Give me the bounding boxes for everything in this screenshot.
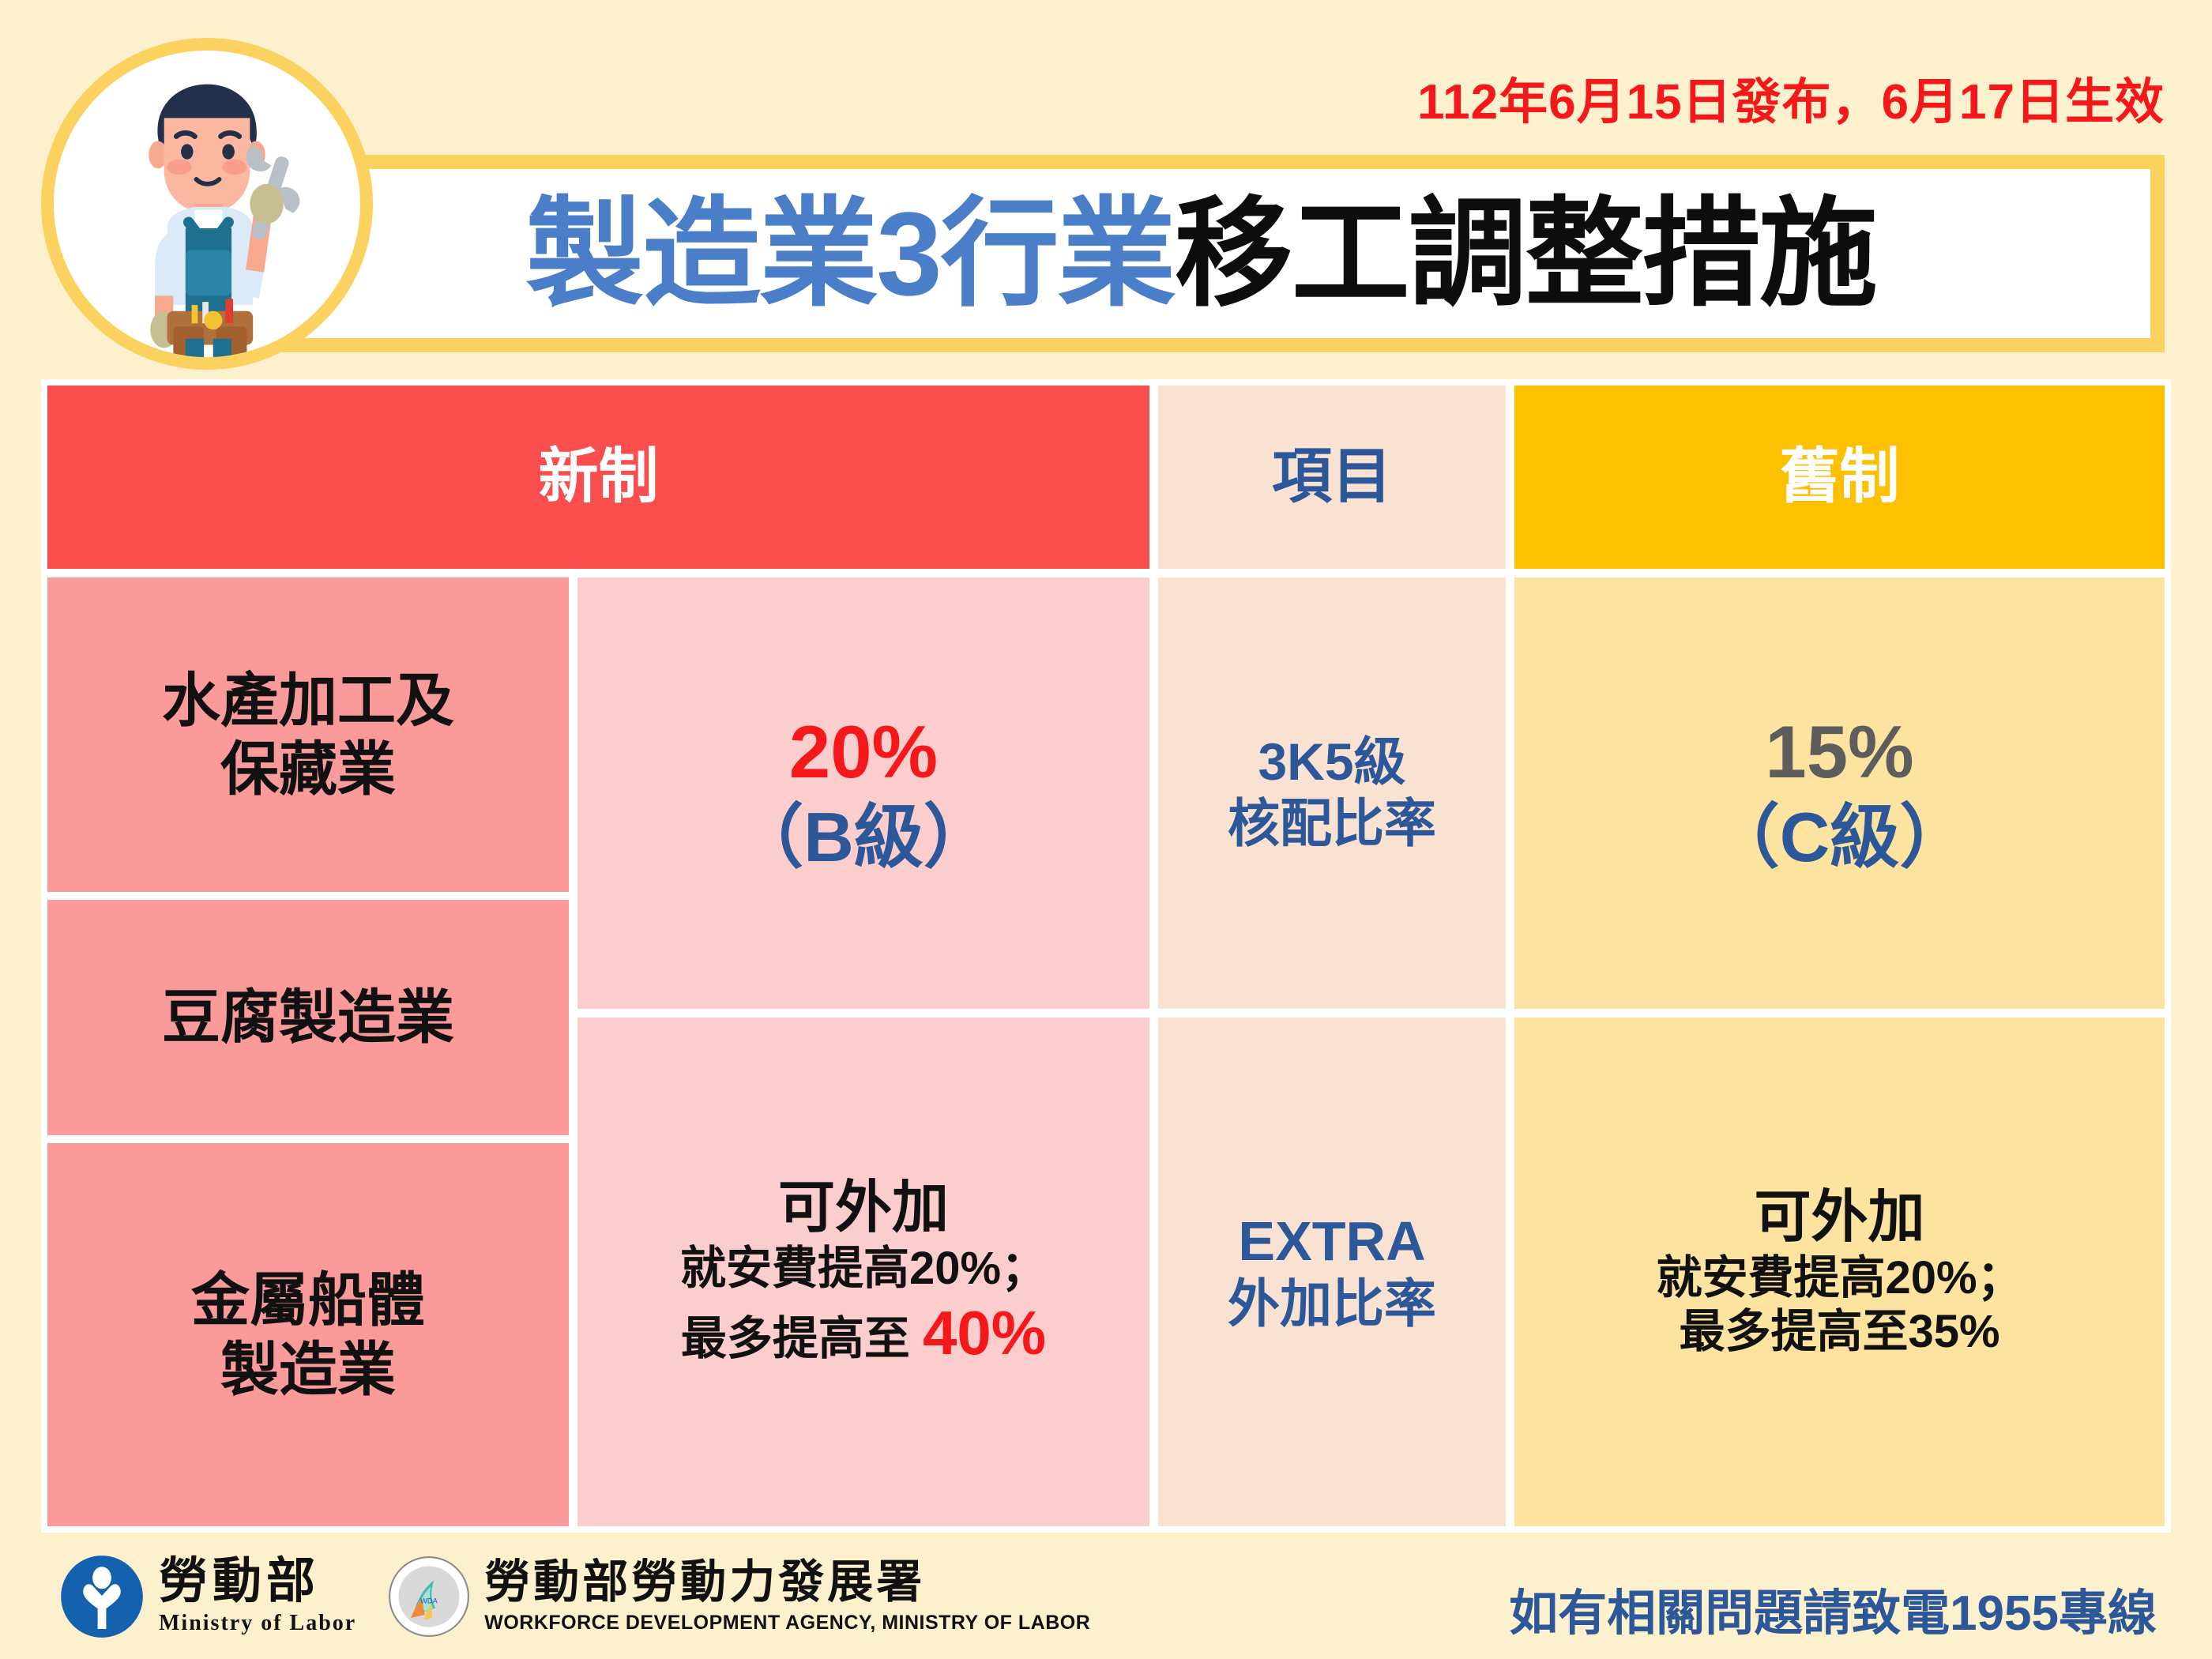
new-extra-line3-prefix: 最多提高至: [681, 1313, 923, 1364]
workforce-agency-text: 勞動部勞動力發展署 WORKFORCE DEVELOPMENT AGENCY, …: [484, 1559, 1090, 1635]
release-date-note: 112年6月15日發布，6月17日生效: [1417, 62, 2165, 133]
new-ratio-grade: （B級）: [734, 796, 993, 878]
column-header-new-system: 新制: [47, 386, 1149, 569]
item-label-line2: 外加比率: [1228, 1273, 1436, 1335]
new-ratio-value: 20%: [789, 709, 938, 796]
comparison-table: 新制 項目 舊制 水產加工及 保藏業 豆腐製造業 金屬船體 製造業 20% （B…: [41, 379, 2171, 1533]
new-extra-note: 可外加 就安費提高20%； 最多提高至 40%: [680, 1175, 1047, 1368]
ministry-of-labor-text: 勞動部 Ministry of Labor: [159, 1557, 356, 1636]
page-title-highlight: 製造業3行業: [525, 187, 1174, 320]
agency-logos: 勞動部 Ministry of Labor WDA 勞動部勞動力發展署 WORK…: [59, 1554, 1090, 1639]
new-extra-max-value: 40%: [923, 1298, 1046, 1367]
page-title-rest: 移工調整措施: [1175, 187, 1876, 320]
item-label-extra: EXTRA 外加比率: [1158, 1018, 1506, 1526]
item-label-line1: EXTRA: [1238, 1209, 1425, 1274]
industry-cell-tofu: 豆腐製造業: [47, 900, 569, 1135]
ministry-name-cn: 勞動部: [159, 1557, 356, 1606]
old-extra-line2: 就安費提高20%；: [1656, 1251, 2022, 1305]
agency-name-en: WORKFORCE DEVELOPMENT AGENCY, MINISTRY O…: [484, 1612, 1090, 1635]
industry-label: 水產加工及 保藏業: [162, 666, 454, 804]
new-extra-line1: 可外加: [680, 1175, 1047, 1242]
agency-name-cn: 勞動部勞動力發展署: [484, 1559, 1090, 1605]
item-label-line2: 核配比率: [1228, 793, 1436, 855]
old-extra-line1: 可外加: [1656, 1184, 2022, 1251]
page-title: 製造業3行業移工調整措施: [525, 194, 1875, 313]
old-system-extra-cell: 可外加 就安費提高20%； 最多提高至35%: [1514, 1018, 2165, 1526]
ministry-name-en: Ministry of Labor: [159, 1611, 356, 1636]
footer: 勞動部 Ministry of Labor WDA 勞動部勞動力發展署 WORK…: [0, 1544, 2212, 1659]
new-extra-line2: 就安費提高20%；: [680, 1242, 1047, 1296]
workforce-development-agency-logo-icon: WDA: [388, 1556, 470, 1638]
column-header-item: 項目: [1158, 386, 1506, 569]
svg-text:WDA: WDA: [420, 1597, 438, 1604]
industry-label: 金屬船體 製造業: [191, 1266, 425, 1404]
old-extra-note: 可外加 就安費提高20%； 最多提高至35%: [1656, 1184, 2022, 1360]
new-extra-line3: 最多提高至 40%: [680, 1296, 1047, 1369]
new-system-ratio-cell: 20% （B級）: [577, 577, 1149, 1009]
hotline-note: 如有相關問題請致電1955專線: [1509, 1573, 2157, 1644]
industry-label: 豆腐製造業: [162, 983, 454, 1051]
industry-cell-aquatic: 水產加工及 保藏業: [47, 577, 569, 892]
title-banner: 製造業3行業移工調整措施: [237, 155, 2165, 352]
item-label-line1: 3K5級: [1258, 732, 1405, 793]
old-extra-line3: 最多提高至35%: [1656, 1305, 2022, 1359]
industry-cell-metal-hull: 金屬船體 製造業: [47, 1143, 569, 1526]
old-ratio-value: 15%: [1765, 709, 1913, 796]
item-label-ratio: 3K5級 核配比率: [1158, 577, 1506, 1009]
new-system-extra-cell: 可外加 就安費提高20%； 最多提高至 40%: [577, 1018, 1149, 1526]
old-ratio-grade: （C級）: [1710, 796, 1969, 878]
old-system-ratio-cell: 15% （C級）: [1514, 577, 2165, 1009]
column-header-old-system: 舊制: [1514, 386, 2165, 569]
worker-with-wrench-icon: [41, 38, 373, 370]
ministry-of-labor-logo-icon: [59, 1554, 145, 1639]
